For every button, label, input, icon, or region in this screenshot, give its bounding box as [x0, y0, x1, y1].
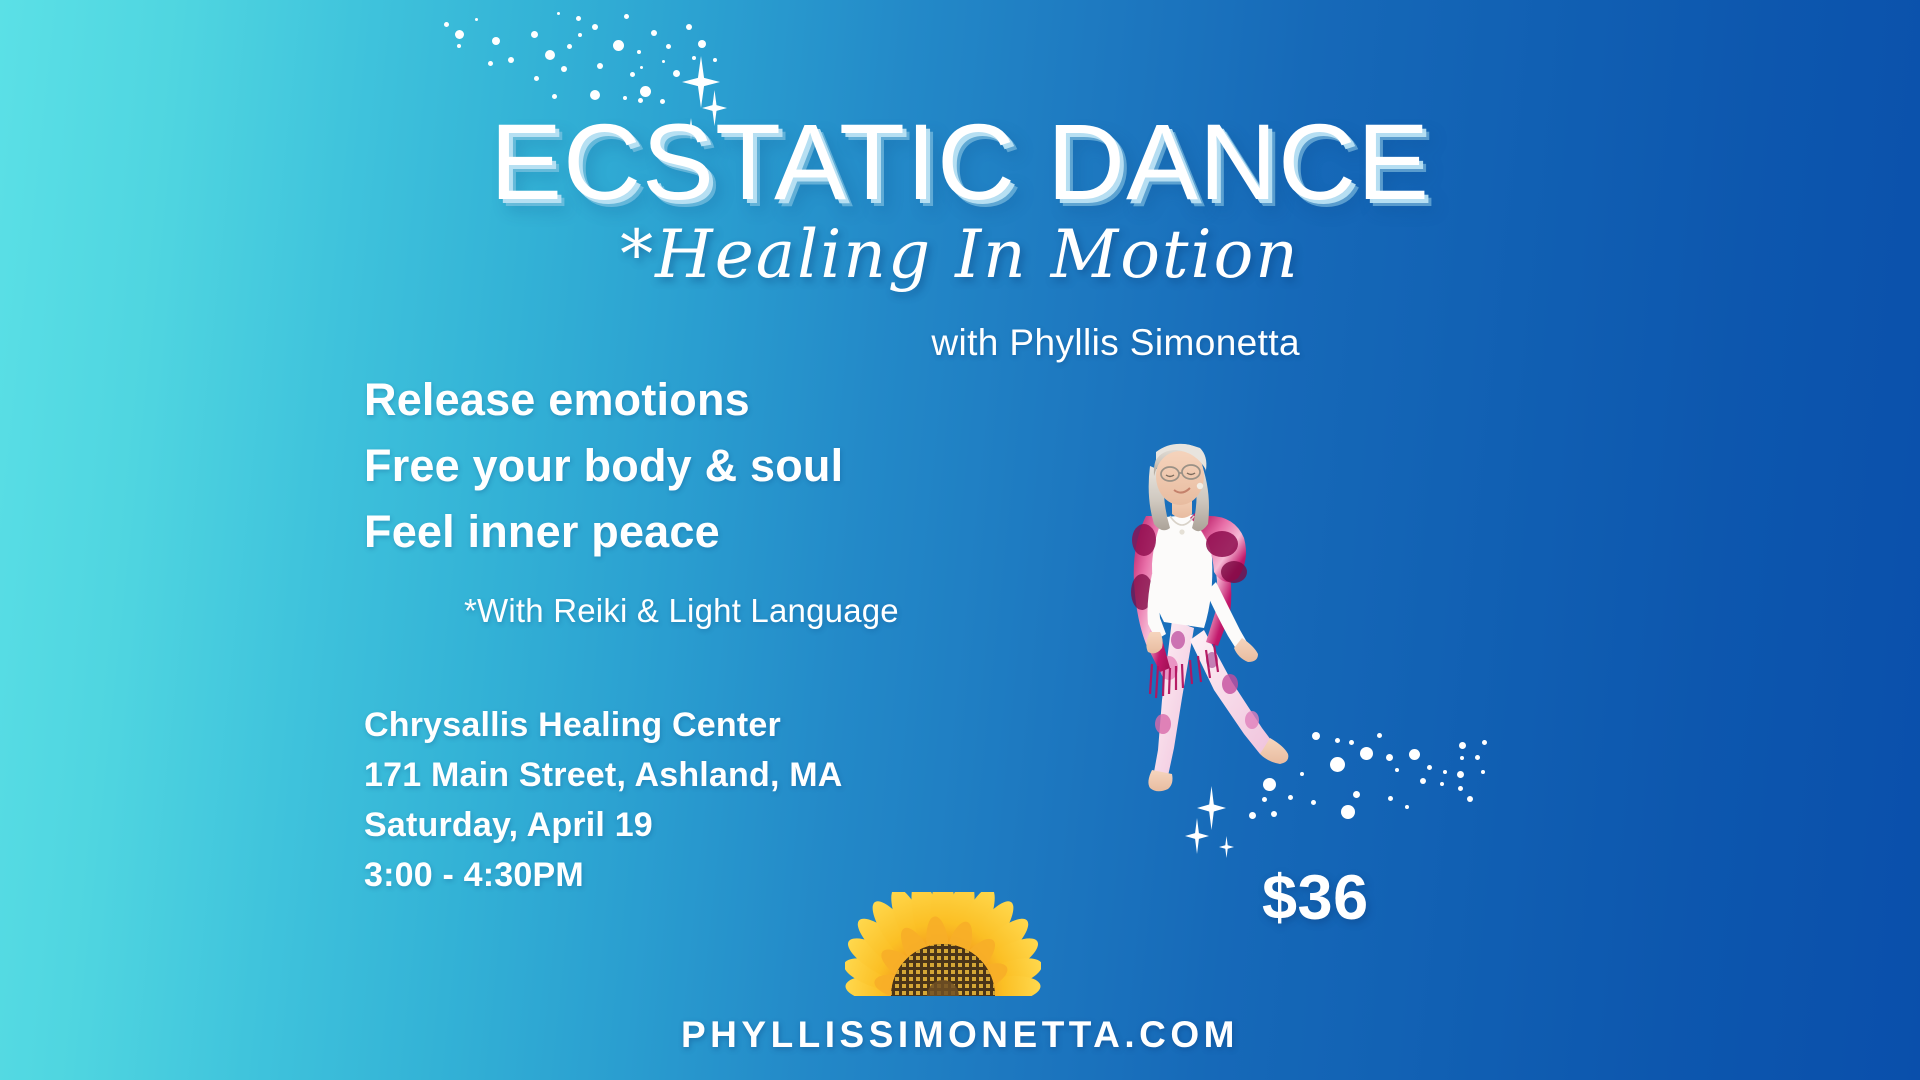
sparkle-dot — [531, 31, 538, 38]
sparkle-dot — [1405, 805, 1409, 809]
website-footer[interactable]: PHYLLISSIMONETTA.COM — [0, 1014, 1920, 1056]
website-url[interactable]: PHYLLISSIMONETTA.COM — [681, 1014, 1239, 1056]
sparkle-dot — [1353, 791, 1360, 798]
sparkle-dot — [557, 12, 560, 15]
sparkle-dot — [623, 96, 627, 100]
sparkle-dot — [576, 16, 581, 21]
sparkle-dot — [1475, 755, 1480, 760]
sparkle-dot — [457, 44, 461, 48]
sparkle-dot — [1467, 796, 1473, 802]
sparkle-dot — [590, 90, 600, 100]
sparkle-dot — [592, 24, 598, 30]
sparkle-dot — [1388, 796, 1393, 801]
sparkle-dot — [1377, 733, 1382, 738]
event-time: 3:00 - 4:30PM — [364, 850, 843, 900]
sparkle-dot — [630, 72, 635, 77]
presenter-container: with Phyllis Simonetta — [0, 322, 1300, 364]
sparkle-dot — [1271, 811, 1277, 817]
benefit-list: Release emotions Free your body & soul F… — [364, 367, 843, 565]
venue-address: 171 Main Street, Ashland, MA — [364, 750, 843, 800]
sunflower-logo — [845, 892, 1041, 996]
sparkle-dot — [640, 86, 651, 97]
sparkle-dot — [1482, 740, 1487, 745]
sparkle-dot — [458, 34, 461, 37]
sparkle-dot — [1458, 786, 1463, 791]
sparkle-dot — [1360, 747, 1373, 760]
script-subtitle: *Healing In Motion — [620, 222, 1300, 288]
sparkle-dot — [1440, 782, 1444, 786]
sparkle-dot — [534, 76, 539, 81]
sparkle-dot — [1481, 770, 1485, 774]
sparkle-dot — [1409, 749, 1420, 760]
sparkle-dot — [624, 14, 629, 19]
sparkle-dot — [492, 37, 500, 45]
sparkle-dot — [488, 61, 493, 66]
benefit-item: Feel inner peace — [364, 499, 843, 565]
sparkle-dot — [455, 30, 464, 39]
sparkle-dot — [1427, 765, 1432, 770]
sparkle-dot — [1459, 742, 1466, 749]
modality-note: *With Reiki & Light Language — [464, 592, 899, 630]
event-date: Saturday, April 19 — [364, 800, 843, 850]
sparkle-dot — [1420, 778, 1426, 784]
sparkle-dot — [1330, 757, 1345, 772]
sparkle-dot — [567, 44, 572, 49]
sparkle-star-icon — [1219, 836, 1234, 858]
sparkle-dot — [545, 50, 555, 60]
sparkle-dot — [1443, 770, 1447, 774]
sparkle-dot — [662, 60, 665, 63]
page-title: ECSTATIC DANCE — [490, 108, 1430, 216]
sparkle-dot — [686, 24, 692, 30]
presenter-name: with Phyllis Simonetta — [931, 322, 1300, 364]
sparkle-dot — [1386, 754, 1393, 761]
subtitle-container: *Healing In Motion — [0, 222, 1920, 288]
sparkle-dot — [1460, 756, 1464, 760]
sparkle-dot — [597, 63, 603, 69]
sparkle-dot — [666, 44, 671, 49]
sparkle-dot — [692, 56, 696, 60]
benefit-item: Free your body & soul — [364, 433, 843, 499]
sparkle-dot — [1335, 738, 1340, 743]
sparkle-dot — [640, 66, 643, 69]
venue-name: Chrysallis Healing Center — [364, 700, 843, 750]
sparkle-dot — [673, 70, 680, 77]
sparkle-dot — [508, 57, 514, 63]
sparkle-dot — [578, 33, 582, 37]
price-label: $36 — [1262, 862, 1369, 934]
event-flyer: ECSTATIC DANCE *Healing In Motion with P… — [0, 0, 1920, 1080]
sparkle-dot — [444, 22, 449, 27]
sparkle-dot — [1349, 740, 1354, 745]
sparkle-dot — [561, 66, 567, 72]
headline-container: ECSTATIC DANCE — [0, 108, 1920, 216]
dancing-woman-photo — [1112, 432, 1327, 804]
sparkle-dot — [1395, 768, 1399, 772]
benefit-item: Release emotions — [364, 367, 843, 433]
sparkle-dot — [1457, 771, 1464, 778]
sparkle-dot — [1249, 812, 1256, 819]
sparkle-dot — [552, 94, 557, 99]
sparkle-dot — [698, 40, 706, 48]
sparkle-dot — [637, 50, 641, 54]
sparkle-dot — [475, 18, 478, 21]
sparkle-star-icon — [1185, 818, 1209, 854]
sparkle-dot — [713, 58, 717, 62]
venue-details: Chrysallis Healing Center 171 Main Stree… — [364, 700, 843, 900]
sparkle-dot — [613, 40, 624, 51]
sparkle-dot — [1341, 805, 1355, 819]
sparkle-dot — [651, 30, 657, 36]
